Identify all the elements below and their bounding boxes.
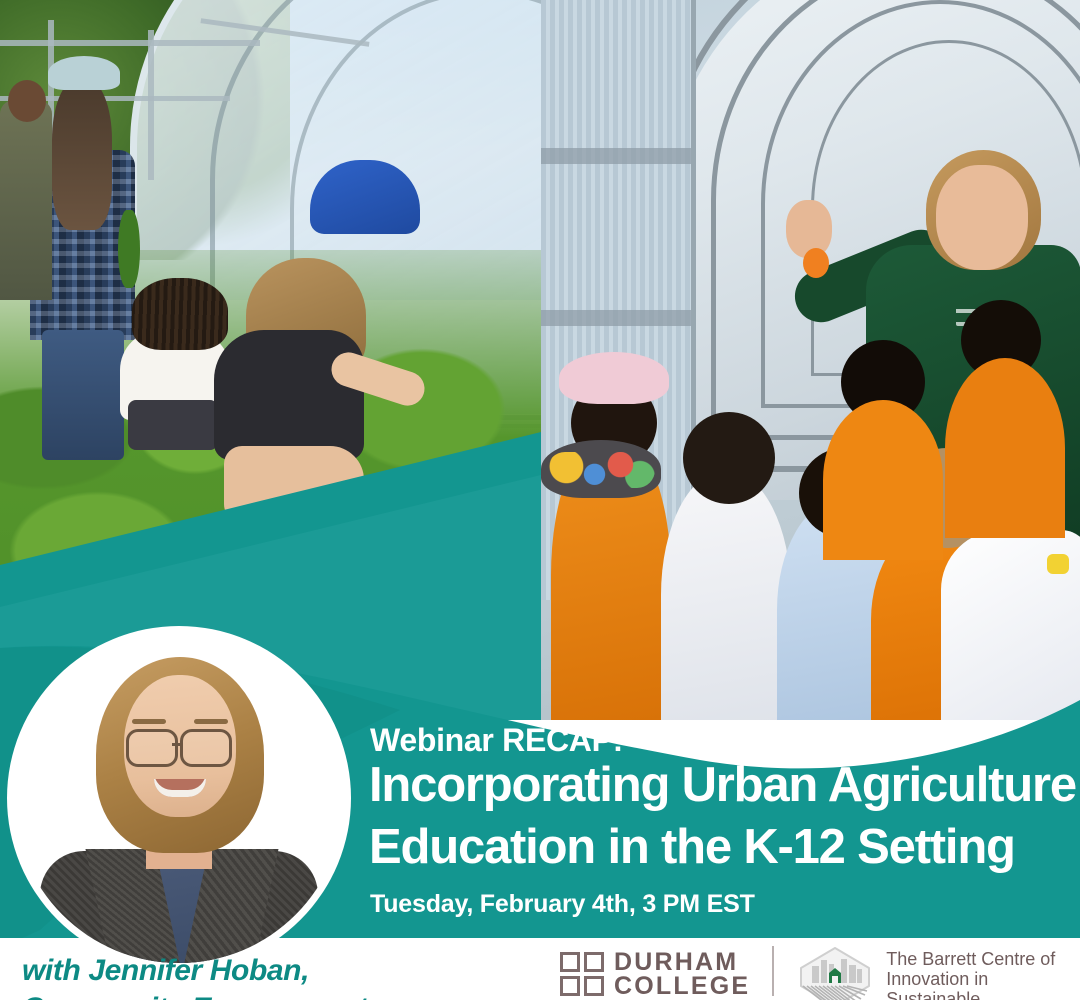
cucumber-3 [118,210,140,288]
staff-face [936,165,1028,270]
person-standing-cap [48,56,120,90]
person-crouching-braids-shorts [128,400,218,450]
square-top-right [584,952,604,972]
barrett-centre-wordmark: The Barrett Centre of Innovation in Sust… [886,946,1080,1000]
person-crouching-tank-shoe [244,520,334,556]
event-datetime: Tuesday, February 4th, 3 PM EST [370,890,755,919]
barrett-line-1: The Barrett Centre of [886,949,1080,969]
backpack-clip [1047,554,1069,574]
child-pink-cap [559,352,669,404]
photo-band [0,0,1080,720]
barrett-centre-logo: The Barrett Centre of Innovation in Sust… [796,946,1080,1000]
person-crouching-tank-body [214,330,364,460]
durham-line-2: COLLEGE [614,974,750,998]
person-khaki [0,100,52,300]
person-standing-jeans [42,330,124,460]
cap-pattern-dots [547,452,655,488]
headshot-image [14,633,344,963]
logo-bar: DURHAM COLLEGE [560,944,1080,1000]
speaker-name: with Jennifer Hoban, [22,952,442,990]
person-khaki-head [8,80,46,122]
square-bottom-left [560,976,580,996]
webinar-kicker: Webinar RECAP: [370,722,623,759]
logo-divider [772,946,774,996]
end-wall-band-2 [541,310,691,326]
child-head-2 [683,412,775,504]
durham-college-wordmark: DURHAM COLLEGE [614,950,750,998]
barrett-centre-shield-icon [796,946,874,1000]
square-top-left [560,952,580,972]
orange-tomato [803,248,829,278]
frame-bar-h1 [0,40,260,46]
title-line-2: Education in the K-12 Setting [369,822,1015,873]
photo-greenhouse-tour-children [541,0,1080,720]
speaker-role: Community Engagement Coordinator [22,990,442,1000]
square-bottom-right [584,976,604,996]
jennifer-hoban-headshot [14,633,344,963]
durham-line-1: DURHAM [614,950,750,974]
person-crouching-braids-hair [132,278,228,350]
headshot-glasses-right [180,729,232,767]
headshot-glasses-bridge [172,743,182,746]
child-orange-4 [945,358,1065,538]
cucumber-1 [330,520,416,542]
barrett-line-2: Innovation in Sustainable [886,969,1080,1000]
four-squares-icon [560,952,604,996]
title-line-1: Incorporating Urban Agriculture [369,760,1076,811]
speaker-credit: with Jennifer Hoban, Community Engagemen… [22,952,442,1000]
child-white-1 [661,470,791,720]
durham-college-logo: DURHAM COLLEGE [560,950,750,998]
child-orange-3 [823,400,943,560]
person-crouching-tank-leg [224,446,364,524]
end-wall-band-1 [541,148,691,164]
barn-door [832,976,838,983]
person-standing-hair [52,80,112,230]
webinar-recap-poster: Webinar RECAP: Incorporating Urban Agric… [0,0,1080,1000]
frame-bar-v2 [148,30,154,180]
photo-greenhouse-students-harvesting [0,0,541,720]
headshot-brow-left [132,719,166,724]
headshot-brow-right [194,719,228,724]
headshot-glasses-left [126,729,178,767]
